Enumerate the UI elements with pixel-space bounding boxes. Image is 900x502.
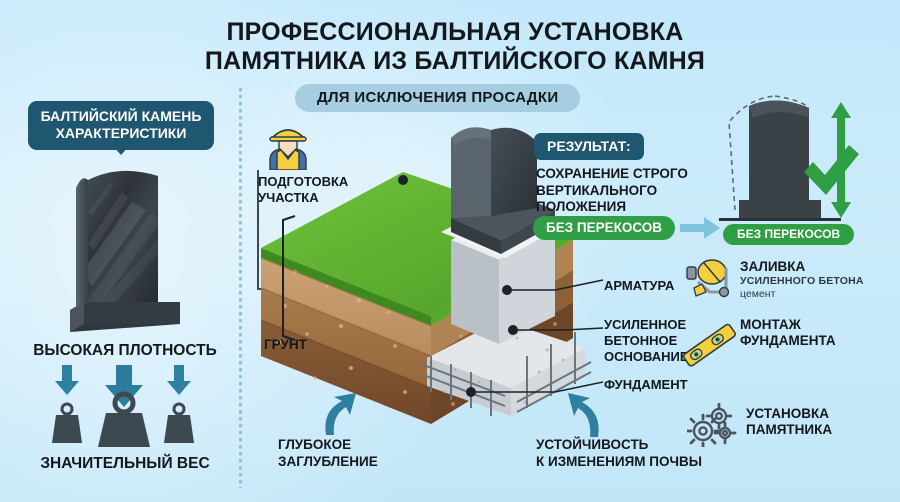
down-arrow-icon xyxy=(55,365,79,395)
left-badge-line-1: БАЛТИЙСКИЙ КАМЕНЬ xyxy=(34,108,208,125)
step-installation-title: УСТАНОВКА ПАМЯТНИКА xyxy=(746,406,876,438)
curved-arrow-up-left-icon xyxy=(320,393,360,435)
step-installation-line-1: УСТАНОВКА xyxy=(746,406,876,422)
stable-label-line-1: УСТОЙЧИВОСТЬ xyxy=(536,437,716,454)
concrete-mixer-icon xyxy=(686,258,734,298)
step-mounting-line-1: МОНТАЖ xyxy=(740,317,870,333)
curved-arrow-up-right-icon xyxy=(560,393,604,437)
result-text: СОХРАНЕНИЕ СТРОГО ВЕРТИКАЛЬНОГО ПОЛОЖЕНИ… xyxy=(536,166,721,216)
spirit-level-icon xyxy=(682,320,738,372)
vertical-dotted-divider xyxy=(239,88,242,488)
deep-label-line-2: ЗАГЛУБЛЕНИЕ xyxy=(278,454,398,471)
title-line-1: ПРОФЕССИОНАЛЬНАЯ УСТАНОВКА xyxy=(185,18,725,47)
stable-label-line-2: К ИЗМЕНЕНИЯМ ПОЧВЫ xyxy=(536,454,716,471)
callout-label-armatura: АРМАТУРА xyxy=(604,278,674,294)
step-pouring-subtitle: УСИЛЕННОГО БЕТОНА xyxy=(740,275,864,287)
check-icon xyxy=(804,145,859,195)
left-badge-line-2: ХАРАКТЕРИСТИКИ xyxy=(34,125,208,142)
left-panel-badge: БАЛТИЙСКИЙ КАМЕНЬ ХАРАКТЕРИСТИКИ xyxy=(28,101,214,150)
result-text-line-1: СОХРАНЕНИЕ СТРОГО xyxy=(536,166,721,183)
title-line-2: ПАМЯТНИКА ИЗ БАЛТИЙСКОГО КАМНЯ xyxy=(185,47,725,76)
weights-illustration xyxy=(40,365,210,450)
weight-label: ЗНАЧИТЕЛЬНЫЙ ВЕС xyxy=(10,455,240,473)
result-text-line-2: ВЕРТИКАЛЬНОГО xyxy=(536,183,721,200)
granite-monument-illustration xyxy=(62,152,188,342)
result-pill-no-tilt: БЕЗ ПЕРЕКОСОВ xyxy=(533,216,675,240)
density-label: ВЫСОКАЯ ПЛОТНОСТЬ xyxy=(10,342,240,360)
step-mounting-title: МОНТАЖ ФУНДАМЕНТА xyxy=(740,317,870,349)
soil-bracket-label: ГРУНТ xyxy=(264,337,307,352)
step-mounting-line-2: ФУНДАМЕНТА xyxy=(740,333,870,349)
page-title: ПРОФЕССИОНАЛЬНАЯ УСТАНОВКА ПАМЯТНИКА ИЗ … xyxy=(185,18,725,76)
top-right-pill-no-tilt: БЕЗ ПЕРЕКОСОВ xyxy=(723,224,854,245)
step-installation-line-2: ПАМЯТНИКА xyxy=(746,422,876,438)
step-pouring-note: цемент xyxy=(740,288,775,300)
subtitle-badge: ДЛЯ ИСКЛЮЧЕНИЯ ПРОСАДКИ xyxy=(295,84,580,112)
step-pouring-title: ЗАЛИВКА xyxy=(740,259,805,274)
vertical-alignment-illustration xyxy=(705,92,885,242)
deep-label-line-1: ГЛУБОКОЕ xyxy=(278,437,398,454)
infographic-canvas: ПРОФЕССИОНАЛЬНАЯ УСТАНОВКА ПАМЯТНИКА ИЗ … xyxy=(0,0,900,502)
monument-stele xyxy=(451,127,537,218)
result-text-line-3: ПОЛОЖЕНИЯ xyxy=(536,199,721,216)
soil-stability-label: УСТОЙЧИВОСТЬ К ИЗМЕНЕНИЯМ ПОЧВЫ xyxy=(536,437,716,470)
deep-embedment-label: ГЛУБОКОЕ ЗАГЛУБЛЕНИЕ xyxy=(278,437,398,470)
result-badge: РЕЗУЛЬТАТ: xyxy=(534,133,644,160)
callout-label-fundament: ФУНДАМЕНТ xyxy=(604,377,688,393)
